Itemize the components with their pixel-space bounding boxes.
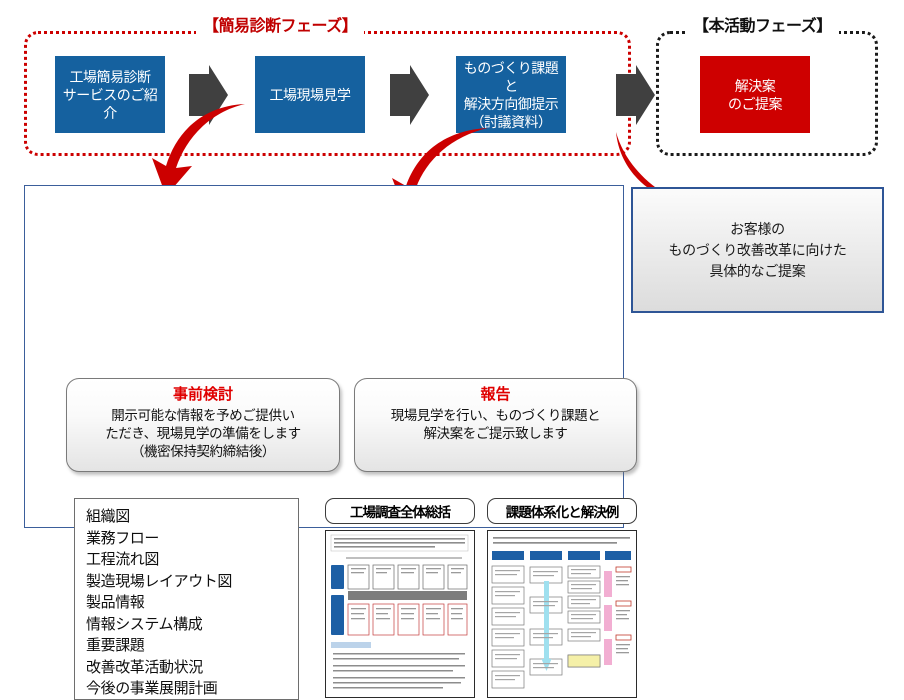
- list-item: 情報システム構成: [86, 614, 298, 636]
- list-item: 工程流れ図: [86, 549, 298, 571]
- phase-label-main-activity: 【本活動フェーズ】: [686, 18, 839, 36]
- process-box-factory-diagnosis-intro[interactable]: 工場簡易診断サービスのご紹介: [55, 56, 165, 133]
- process-box-visit-label: 工場現場見学: [270, 86, 351, 104]
- callout-report[interactable]: 報告 現場見学を行い、ものづくり課題と解決案をご提示致します: [354, 378, 637, 472]
- list-item: 今後の事業展開計画: [86, 678, 298, 700]
- callout-report-title: 報告: [363, 385, 628, 405]
- chevron-arrow-icon-3: [614, 64, 656, 126]
- customer-proposal-panel: お客様の ものづくり改善改革に向けた 具体的なご提案: [631, 187, 884, 313]
- customer-proposal-line: ものづくり改善改革に向けた: [668, 240, 846, 261]
- thumbnail-issue-structure[interactable]: 課題体系化と解決例: [487, 498, 637, 700]
- customer-proposal-line: 具体的なご提案: [668, 261, 846, 282]
- requested-document-list: 組織図 業務フロー 工程流れ図 製造現場レイアウト図 製品情報 情報システム構成…: [74, 498, 299, 700]
- phase-label-simple-diagnosis: 【簡易診断フェーズ】: [196, 18, 364, 36]
- process-box-monozukuri-issues[interactable]: ものづくり課題と解決方向御提示（討議資料）: [456, 56, 566, 133]
- chevron-arrow-icon-2: [388, 64, 430, 126]
- list-item: 製品情報: [86, 592, 298, 614]
- list-item: 重要課題: [86, 635, 298, 657]
- thumbnail-survey-summary-title: 工場調査全体総括: [325, 498, 475, 524]
- list-item: 組織図: [86, 506, 298, 528]
- process-box-solution-proposal[interactable]: 解決案のご提案: [700, 56, 810, 133]
- list-item: 改善改革活動状況: [86, 657, 298, 679]
- thumbnail-issue-structure-preview: [487, 530, 637, 698]
- thumbnail-issue-structure-title: 課題体系化と解決例: [487, 498, 637, 524]
- thumbnail-survey-summary[interactable]: 工場調査全体総括: [325, 498, 475, 700]
- process-box-issues-label: ものづくり課題と解決方向御提示（討議資料）: [458, 59, 564, 131]
- thumbnail-survey-summary-preview: [325, 530, 475, 698]
- requested-document-list-items: 組織図 業務フロー 工程流れ図 製造現場レイアウト図 製品情報 情報システム構成…: [86, 506, 298, 700]
- process-box-factory-site-visit[interactable]: 工場現場見学: [255, 56, 365, 133]
- callout-pre-study[interactable]: 事前検討 開示可能な情報を予めご提供いただき、現場見学の準備をします（機密保持契…: [66, 378, 340, 472]
- red-curved-arrow-icon-to-pre-study: [150, 96, 260, 198]
- callout-report-body: 現場見学を行い、ものづくり課題と解決案をご提示致します: [363, 407, 628, 443]
- callout-pre-study-title: 事前検討: [75, 385, 331, 405]
- process-box-intro-label: 工場簡易診断サービスのご紹介: [57, 68, 163, 122]
- diagram-canvas: 【簡易診断フェーズ】 【本活動フェーズ】 工場簡易診断サービスのご紹介 工場現場…: [0, 0, 904, 551]
- list-item: 製造現場レイアウト図: [86, 571, 298, 593]
- process-box-solution-label: 解決案のご提案: [728, 77, 782, 113]
- customer-proposal-text: お客様の ものづくり改善改革に向けた 具体的なご提案: [668, 219, 846, 282]
- customer-proposal-line: お客様の: [668, 219, 846, 240]
- simple-diagnosis-detail-panel: 事前検討 開示可能な情報を予めご提供いただき、現場見学の準備をします（機密保持契…: [24, 185, 624, 528]
- list-item: 業務フロー: [86, 528, 298, 550]
- callout-pre-study-body: 開示可能な情報を予めご提供いただき、現場見学の準備をします（機密保持契約締結後）: [75, 407, 331, 461]
